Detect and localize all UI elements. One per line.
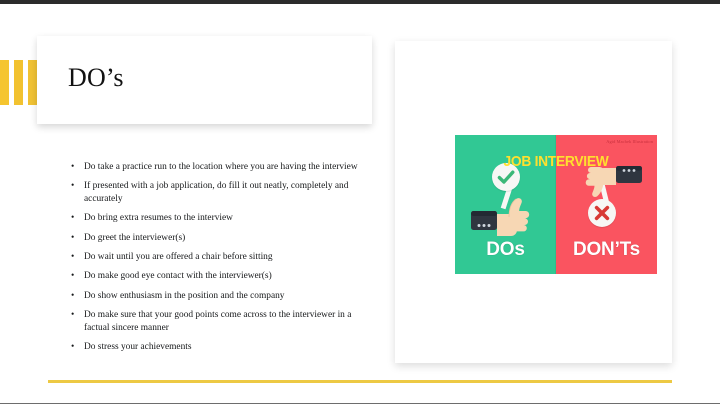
dos-bullet-list: •Do take a practice run to the location … — [66, 161, 366, 360]
thumbs-up-icon — [471, 197, 533, 237]
bottom-accent-rule — [48, 380, 672, 383]
left-accent-bars — [0, 60, 37, 105]
top-strip — [0, 0, 720, 4]
list-item-label: Do show enthusiasm in the position and t… — [84, 291, 285, 301]
job-interview-illustration: DOs — [455, 135, 657, 274]
list-item-label: If presented with a job application, do … — [84, 181, 348, 203]
list-item: •Do show enthusiasm in the position and … — [66, 290, 366, 302]
dont-label: DON’Ts — [556, 239, 657, 261]
list-item-label: Do stress your achievements — [84, 342, 192, 352]
list-item-label: Do bring extra resumes to the interview — [84, 213, 233, 223]
watermark-credit: Agid Machek Illustration — [606, 139, 653, 144]
illustration-card: DOs — [395, 41, 672, 363]
bullet-icon: • — [71, 251, 74, 263]
bullet-icon: • — [71, 180, 74, 192]
bullet-icon: • — [71, 212, 74, 224]
list-item: •Do make good eye contact with the inter… — [66, 270, 366, 282]
panel-divider — [555, 135, 556, 274]
list-item: •Do take a practice run to the location … — [66, 161, 366, 173]
accent-bar-3 — [28, 60, 37, 105]
bullet-icon: • — [71, 232, 74, 244]
list-item-label: Do greet the interviewer(s) — [84, 233, 185, 243]
bullet-icon: • — [71, 341, 74, 353]
list-item: •Do greet the interviewer(s) — [66, 232, 366, 244]
list-item: •Do bring extra resumes to the interview — [66, 212, 366, 224]
bullet-icon: • — [71, 309, 74, 321]
cross-icon — [588, 199, 616, 227]
list-item: •Do stress your achievements — [66, 341, 366, 353]
list-item-label: Do make good eye contact with the interv… — [84, 271, 272, 281]
bullet-icon: • — [71, 290, 74, 302]
title-card: DO’s — [37, 36, 372, 124]
list-item: •Do wait until you are offered a chair b… — [66, 251, 366, 263]
list-item-label: Do wait until you are offered a chair be… — [84, 252, 273, 262]
list-item: •Do make sure that your good points come… — [66, 309, 366, 334]
accent-bar-1 — [0, 60, 9, 105]
list-item: •If presented with a job application, do… — [66, 180, 366, 205]
graphic-headline: JOB INTERVIEW — [463, 153, 649, 170]
do-label: DOs — [455, 239, 556, 261]
page-title: DO’s — [68, 65, 124, 91]
accent-bar-2 — [14, 60, 23, 105]
bullet-icon: • — [71, 161, 74, 173]
bullet-icon: • — [71, 270, 74, 282]
list-item-label: Do take a practice run to the location w… — [84, 162, 358, 172]
slide-canvas: DO’s •Do take a practice run to the loca… — [0, 0, 720, 407]
bottom-border — [0, 403, 720, 404]
list-item-label: Do make sure that your good points come … — [84, 310, 351, 332]
